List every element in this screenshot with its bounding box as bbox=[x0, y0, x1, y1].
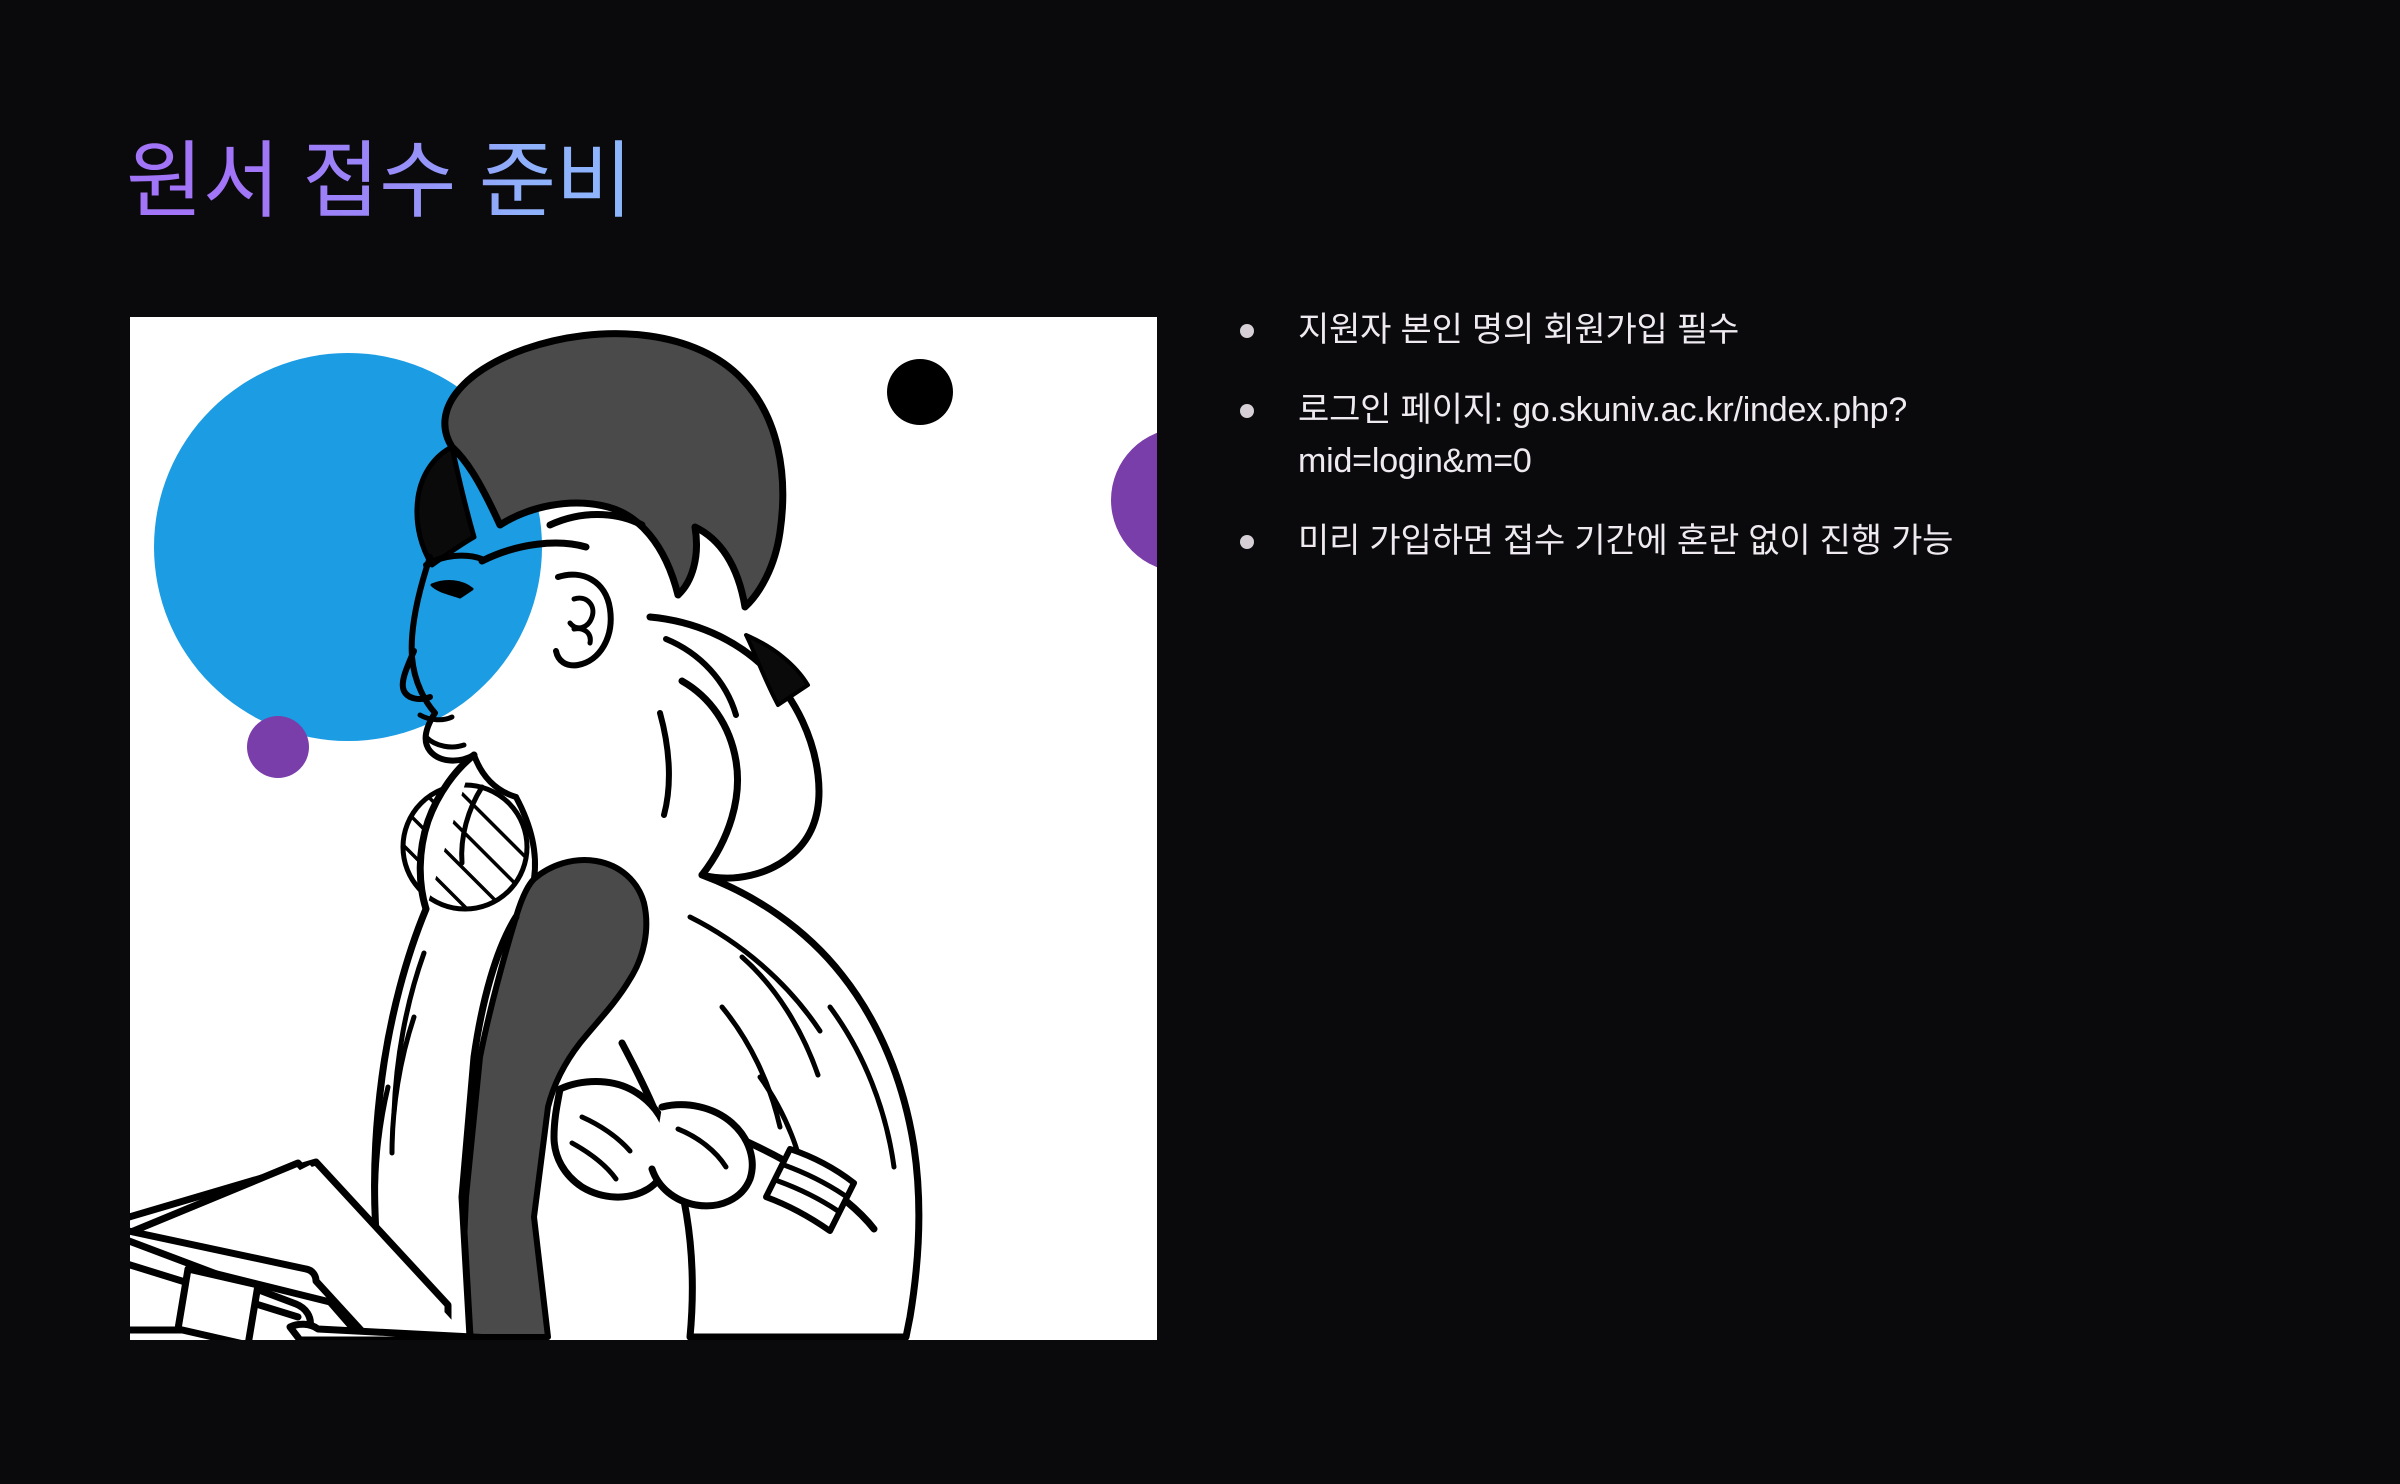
laptop-logo bbox=[178, 1269, 258, 1340]
list-item: 지원자 본인 명의 회원가입 필수 bbox=[1240, 305, 2060, 357]
list-item: 미리 가입하면 접수 기간에 혼란 없이 진행 가능 bbox=[1240, 516, 2060, 568]
person-typing-laptop-illustration bbox=[130, 317, 1157, 1340]
bullet-dot-icon bbox=[1240, 404, 1254, 418]
bullet-dot-icon bbox=[1240, 324, 1254, 338]
bullet-text: 지원자 본인 명의 회원가입 필수 bbox=[1298, 305, 2060, 357]
bullet-text: 미리 가입하면 접수 기간에 혼란 없이 진행 가능 bbox=[1298, 516, 2060, 568]
bullet-dot-icon bbox=[1240, 535, 1254, 549]
illustration-panel bbox=[130, 317, 1157, 1340]
page-title: 원서 접수 준비 bbox=[126, 132, 632, 231]
black-circle-decoration-top-right bbox=[887, 359, 953, 425]
list-item: 로그인 페이지: go.skuniv.ac.kr/index.php?mid=l… bbox=[1240, 385, 2060, 488]
slide-root: 원서 접수 준비 bbox=[0, 0, 2400, 1484]
bullet-list: 지원자 본인 명의 회원가입 필수 로그인 페이지: go.skuniv.ac.… bbox=[1240, 305, 2060, 568]
bullet-text: 로그인 페이지: go.skuniv.ac.kr/index.php?mid=l… bbox=[1298, 385, 2060, 488]
small-purple-circle-decoration bbox=[247, 716, 309, 778]
